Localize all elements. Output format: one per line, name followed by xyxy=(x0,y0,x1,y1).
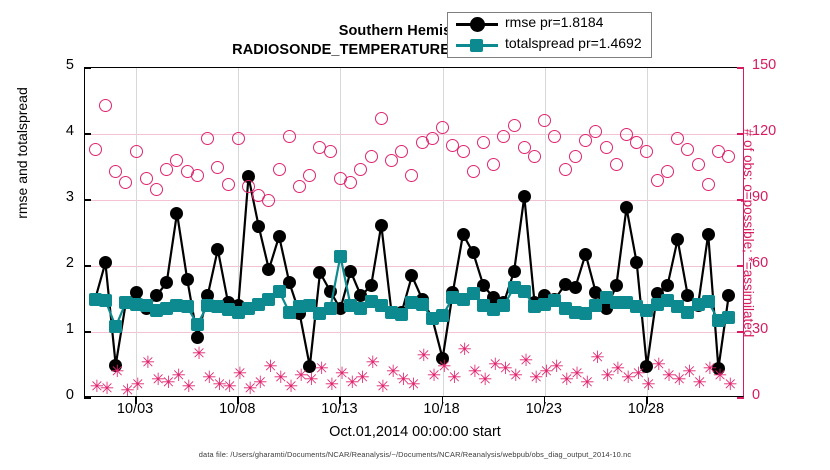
data-point-possible-obs xyxy=(89,143,102,156)
data-point-possible-obs xyxy=(201,132,214,145)
data-point-possible-obs xyxy=(283,130,296,143)
y-axis-left-tick xyxy=(84,265,91,267)
data-point-totalspread xyxy=(436,309,449,322)
data-point-possible-obs xyxy=(600,141,613,154)
data-point-possible-obs xyxy=(262,194,275,207)
y-axis-left-tick xyxy=(84,67,91,69)
x-axis-title: Oct.01,2014 00:00:00 start xyxy=(0,424,830,440)
y-axis-right-tick-label: 0 xyxy=(752,387,792,403)
data-point-possible-obs xyxy=(344,176,357,189)
series-line-filled-square xyxy=(85,68,743,396)
data-point-possible-obs xyxy=(671,132,684,145)
y-axis-right-tick xyxy=(737,331,744,333)
x-axis-tick-label: 10/13 xyxy=(304,401,374,417)
data-layer: ✳✳✳✳✳✳✳✳✳✳✳✳✳✳✳✳✳✳✳✳✳✳✳✳✳✳✳✳✳✳✳✳✳✳✳✳✳✳✳✳… xyxy=(85,68,743,396)
data-point-possible-obs xyxy=(457,145,470,158)
chart-title-line2: RADIOSONDE_TEMPERATURE @ 9.995000e+02 hP… xyxy=(0,41,830,60)
x-axis-tick-label: 10/18 xyxy=(407,401,477,417)
legend-item-totalspread: totalspread pr=1.4692 xyxy=(448,34,651,55)
legend-marker-filled-square-icon xyxy=(470,39,483,52)
data-point-totalspread xyxy=(722,311,735,324)
data-point-possible-obs xyxy=(722,150,735,163)
y-axis-right-tick-label: 60 xyxy=(752,255,792,271)
data-point-possible-obs xyxy=(508,119,521,132)
data-point-possible-obs xyxy=(702,178,715,191)
data-point-possible-obs xyxy=(150,183,163,196)
plot-area: ✳✳✳✳✳✳✳✳✳✳✳✳✳✳✳✳✳✳✳✳✳✳✳✳✳✳✳✳✳✳✳✳✳✳✳✳✳✳✳✳… xyxy=(84,67,744,397)
data-point-possible-obs xyxy=(610,158,623,171)
y-axis-left-tick-label: 4 xyxy=(44,123,74,139)
y-axis-right-tick-label: 120 xyxy=(752,123,792,139)
data-point-possible-obs xyxy=(467,165,480,178)
y-axis-right-tick-label: 30 xyxy=(752,321,792,337)
x-axis-tick-label: 10/08 xyxy=(202,401,272,417)
y-axis-left-tick xyxy=(84,331,91,333)
y-axis-right-title: # of obs: o=possible; *=assimilated xyxy=(738,60,756,406)
data-point-totalspread xyxy=(334,250,347,263)
data-point-totalspread xyxy=(702,295,715,308)
y-axis-right-tick xyxy=(737,397,744,399)
data-point-possible-obs xyxy=(211,161,224,174)
y-axis-right-tick xyxy=(737,265,744,267)
x-axis-tick-label: 10/28 xyxy=(611,401,681,417)
y-axis-left-title: rmse and totalspread xyxy=(14,23,30,283)
data-point-possible-obs xyxy=(109,165,122,178)
data-point-totalspread xyxy=(99,294,112,307)
data-point-totalspread xyxy=(416,298,429,311)
y-axis-right-tick xyxy=(737,133,744,135)
y-axis-left-tick xyxy=(84,397,91,399)
legend: rmse pr=1.8184 totalspread pr=1.4692 xyxy=(447,12,652,58)
data-point-totalspread xyxy=(518,285,531,298)
data-point-totalspread xyxy=(497,299,510,312)
data-point-possible-obs xyxy=(354,163,367,176)
data-point-possible-obs xyxy=(130,145,143,158)
y-axis-left-tick xyxy=(84,199,91,201)
data-point-totalspread xyxy=(324,302,337,315)
y-axis-left-tick-label: 0 xyxy=(44,387,74,403)
y-axis-left-tick xyxy=(84,133,91,135)
legend-label-totalspread: totalspread pr=1.4692 xyxy=(505,35,642,51)
data-point-possible-obs xyxy=(426,132,439,145)
data-point-possible-obs xyxy=(436,121,449,134)
y-axis-left-tick-label: 1 xyxy=(44,321,74,337)
data-point-totalspread xyxy=(395,308,408,321)
data-point-totalspread xyxy=(273,285,286,298)
y-axis-right-tick-label: 90 xyxy=(752,189,792,205)
data-point-possible-obs xyxy=(324,145,337,158)
data-point-possible-obs xyxy=(692,158,705,171)
data-point-possible-obs xyxy=(273,163,286,176)
chart-title-line1: Southern Hemisphere xyxy=(0,22,830,41)
data-file-note: data file: /Users/gharamti/Documents/NCA… xyxy=(0,450,830,459)
y-axis-right-tick xyxy=(737,67,744,69)
x-axis-tick-label: 10/23 xyxy=(509,401,579,417)
data-point-possible-obs xyxy=(528,150,541,163)
data-point-possible-obs xyxy=(232,132,245,145)
y-axis-right-tick xyxy=(737,199,744,201)
x-axis-tick-label: 10/03 xyxy=(100,401,170,417)
data-point-totalspread xyxy=(191,318,204,331)
chart-title-block: Southern Hemisphere RADIOSONDE_TEMPERATU… xyxy=(0,22,830,60)
data-point-totalspread xyxy=(181,300,194,313)
data-point-possible-obs xyxy=(375,112,388,125)
plot-window: Southern Hemisphere RADIOSONDE_TEMPERATU… xyxy=(0,0,830,470)
legend-label-rmse: rmse pr=1.8184 xyxy=(505,14,603,30)
data-point-possible-obs xyxy=(559,163,572,176)
data-point-possible-obs xyxy=(99,99,112,112)
legend-item-rmse: rmse pr=1.8184 xyxy=(448,13,651,34)
legend-marker-filled-circle-icon xyxy=(470,17,485,32)
data-point-possible-obs xyxy=(365,150,378,163)
y-axis-left-tick-label: 5 xyxy=(44,57,74,73)
data-point-possible-obs xyxy=(569,150,582,163)
y-axis-right-tick-label: 150 xyxy=(752,57,792,73)
y-axis-left-tick-label: 3 xyxy=(44,189,74,205)
y-axis-left-tick-label: 2 xyxy=(44,255,74,271)
data-point-totalspread xyxy=(109,320,122,333)
data-point-possible-obs xyxy=(140,172,153,185)
data-point-possible-obs xyxy=(661,165,674,178)
data-point-possible-obs xyxy=(497,130,510,143)
data-point-possible-obs xyxy=(222,178,235,191)
